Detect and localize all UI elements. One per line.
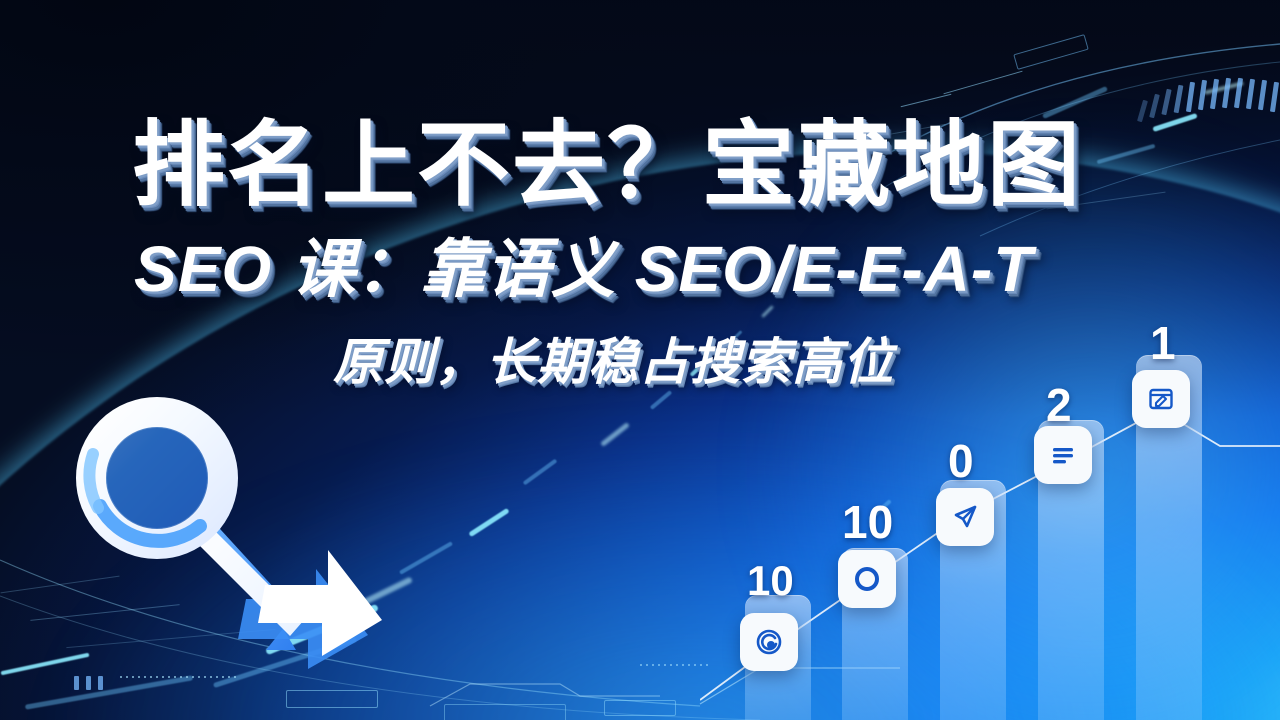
window-edit-icon-card[interactable] — [1132, 370, 1190, 428]
spiral-eye-icon-card[interactable] — [740, 613, 798, 671]
title-line-1: 排名上不去？宝藏地图 — [132, 119, 1082, 212]
ring-circle-icon-card[interactable] — [838, 550, 896, 608]
magnifying-glass-icon — [60, 378, 400, 678]
bar-value-3: 0 — [948, 438, 974, 484]
banner-canvas: 10 10 0 — [0, 0, 1280, 720]
spiral-eye-icon — [753, 626, 785, 658]
ring-circle-icon — [851, 563, 883, 595]
title-line-2: SEO 课：靠语义 SEO/E-E-A-T — [134, 237, 1033, 301]
bar-value-5: 1 — [1150, 320, 1176, 366]
title-line-3: 原则，长期稳占搜索高位 — [333, 337, 894, 387]
bar-value-1: 10 — [747, 560, 794, 602]
paper-plane-send-icon-card[interactable] — [936, 488, 994, 546]
window-edit-icon — [1145, 383, 1177, 415]
paper-plane-send-icon — [949, 501, 981, 533]
bar-value-2: 10 — [842, 499, 893, 545]
bar-value-4: 2 — [1046, 382, 1072, 428]
text-lines-doc-icon — [1047, 439, 1079, 471]
text-lines-doc-icon-card[interactable] — [1034, 426, 1092, 484]
